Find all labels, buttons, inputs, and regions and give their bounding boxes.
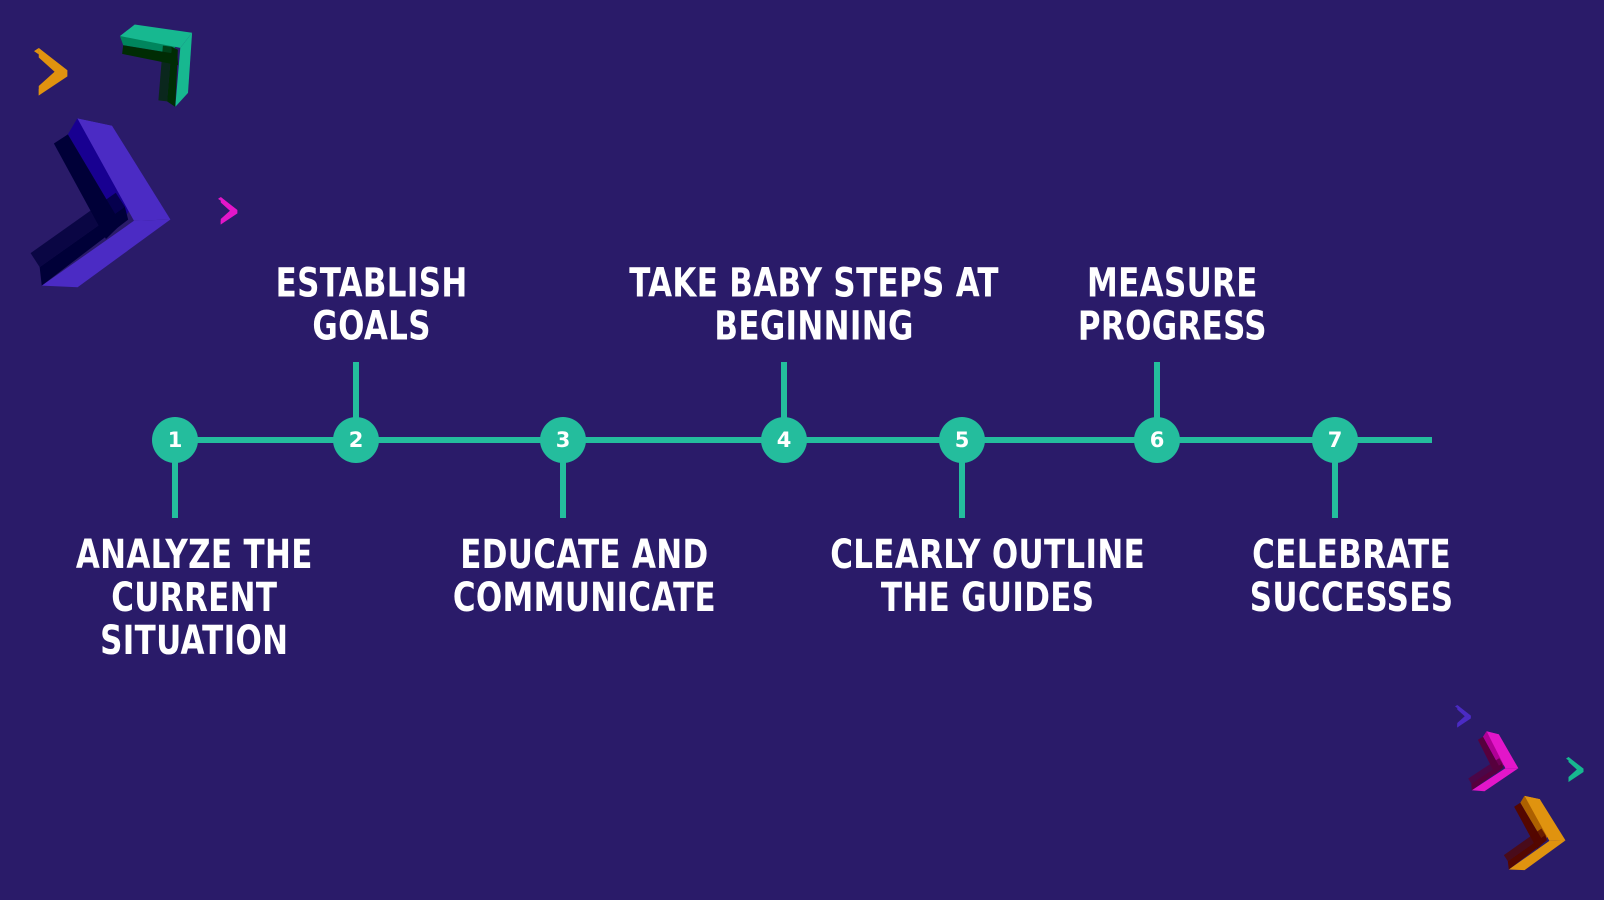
infographic-canvas: 1ANALYZE THE CURRENT SITUATION2ESTABLISH… — [0, 0, 1604, 900]
timeline-label-6: MEASURE PROGRESS — [1078, 262, 1267, 348]
timeline-node-6[interactable]: 6 — [1134, 417, 1180, 463]
timeline-node-1[interactable]: 1 — [152, 417, 198, 463]
timeline-label-5: CLEARLY OUTLINE THE GUIDES — [830, 534, 1145, 620]
chevron-teal-bottomright — [1566, 757, 1586, 782]
chevron-purple-bottomright — [1455, 705, 1473, 728]
timeline-node-2[interactable]: 2 — [333, 417, 379, 463]
chevron-magenta-bottomright — [1465, 730, 1531, 804]
timeline-label-3: EDUCATE AND COMMUNICATE — [453, 534, 716, 620]
timeline-label-2: ESTABLISH GOALS — [276, 262, 468, 348]
chevron-orange-bottomright — [1501, 794, 1581, 884]
timeline-label-4: TAKE BABY STEPS AT BEGINNING — [629, 262, 999, 348]
chevron-orange-topleft — [34, 48, 72, 96]
timeline-label-1: ANALYZE THE CURRENT SITUATION — [76, 534, 313, 662]
timeline-node-3[interactable]: 3 — [540, 417, 586, 463]
chevron-teal-topleft — [113, 0, 231, 115]
timeline-label-7: CELEBRATE SUCCESSES — [1250, 534, 1454, 620]
chevron-magenta-small — [218, 197, 240, 225]
timeline-node-4[interactable]: 4 — [761, 417, 807, 463]
timeline-node-5[interactable]: 5 — [939, 417, 985, 463]
timeline-node-7[interactable]: 7 — [1312, 417, 1358, 463]
chevron-purple-large — [23, 115, 204, 319]
